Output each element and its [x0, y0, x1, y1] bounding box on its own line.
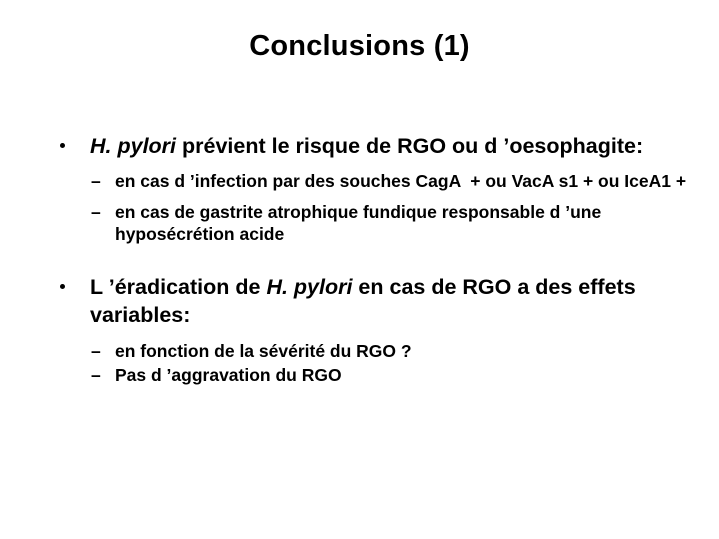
subbullet-item-1-2-text: en cas de gastrite atrophique fundique r…: [115, 202, 601, 244]
species-name-h-pylori: H. pylori: [266, 275, 352, 299]
en-dash-icon: –: [91, 170, 101, 192]
subbullet-item-2-1: – en fonction de la sévérité du RGO ?: [52, 340, 677, 362]
subbullet-item-2-1-text: en fonction de la sévérité du RGO ?: [115, 341, 412, 361]
bullet-item-2-lead: L ’éradication de: [90, 275, 266, 299]
subbullet-item-2-2: – Pas d ’aggravation du RGO: [52, 364, 677, 386]
subbullet-item-1-2: – en cas de gastrite atrophique fundique…: [52, 201, 677, 246]
slide-canvas: Conclusions (1) H. pylori prévient le ri…: [0, 0, 719, 539]
species-name-h-pylori: H. pylori: [90, 134, 176, 158]
bullet-group-1: H. pylori prévient le risque de RGO ou d…: [52, 132, 677, 246]
slide-body: H. pylori prévient le risque de RGO ou d…: [52, 132, 677, 387]
en-dash-icon: –: [91, 340, 101, 362]
bullet-item-1-rest: prévient le risque de RGO ou d ’oesophag…: [176, 134, 643, 158]
bullet-dot-icon: [60, 143, 65, 148]
bullet-group-2: L ’éradication de H. pylori en cas de RG…: [52, 273, 677, 387]
bullet-item-1: H. pylori prévient le risque de RGO ou d…: [52, 132, 677, 161]
en-dash-icon: –: [91, 364, 101, 386]
bullet-item-1-text: H. pylori prévient le risque de RGO ou d…: [90, 134, 643, 158]
en-dash-icon: –: [91, 201, 101, 223]
bullet-item-2-text: L ’éradication de H. pylori en cas de RG…: [90, 275, 636, 328]
subbullet-item-1-1: – en cas d ’infection par des souches Ca…: [52, 170, 677, 192]
bullet-dot-icon: [60, 284, 65, 289]
subbullet-item-1-1-text: en cas d ’infection par des souches CagA…: [115, 171, 686, 191]
slide-title: Conclusions (1): [0, 31, 719, 63]
bullet-item-2: L ’éradication de H. pylori en cas de RG…: [52, 273, 677, 330]
subbullet-item-2-2-text: Pas d ’aggravation du RGO: [115, 365, 342, 385]
